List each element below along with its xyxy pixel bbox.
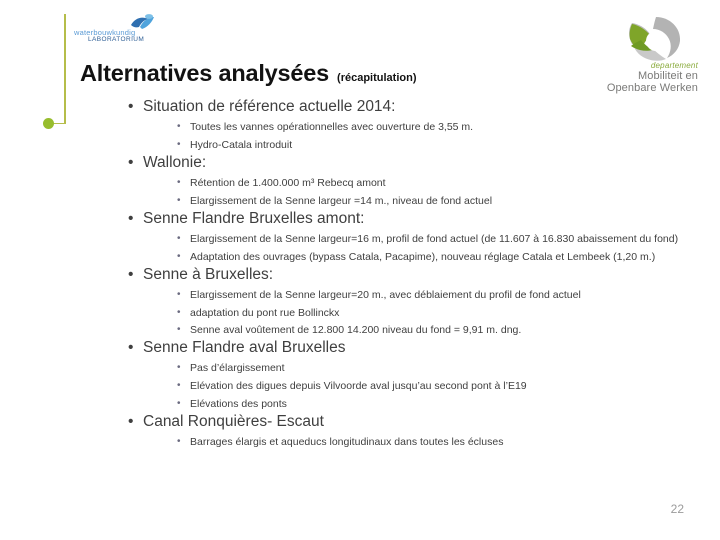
- bullet-level2-icon: •: [177, 379, 181, 392]
- section-bullet-label: Adaptation des ouvrages (bypass Catala, …: [190, 251, 686, 265]
- bullet-level2-icon: •: [177, 435, 181, 448]
- content-section: •Senne Flandre Bruxelles amont:•Elargiss…: [126, 209, 686, 265]
- section-bullet-item: •Elévation des digues depuis Vilvoorde a…: [176, 380, 686, 394]
- bullet-level2-icon: •: [177, 176, 181, 189]
- departement-mow-logo: departement Mobiliteit en Openbare Werke…: [576, 16, 698, 94]
- bullet-level1-icon: •: [128, 265, 133, 285]
- logo-right-line2: Openbare Werken: [576, 82, 698, 94]
- section-bullet-item: •Elargissement de la Senne largeur=16 m,…: [176, 233, 686, 247]
- section-bullet-item: •Rétention de 1.400.000 m³ Rebecq amont: [176, 177, 686, 191]
- section-bullet-label: Rétention de 1.400.000 m³ Rebecq amont: [190, 177, 686, 191]
- section-bullet-item: •Toutes les vannes opérationnelles avec …: [176, 121, 686, 135]
- section-bullet-item: •Elargissement de la Senne largeur =14 m…: [176, 195, 686, 209]
- page-number: 22: [671, 502, 684, 516]
- section-bullet-label: Elévations des ponts: [190, 398, 686, 412]
- bullet-level2-icon: •: [177, 194, 181, 207]
- section-heading: •Senne Flandre aval Bruxelles: [126, 338, 686, 358]
- section-bullet-label: Elévation des digues depuis Vilvoorde av…: [190, 380, 686, 394]
- section-heading-label: Canal Ronquières- Escaut: [143, 413, 324, 430]
- section-bullet-item: •Senne aval voûtement de 12.800 14.200 n…: [176, 324, 686, 338]
- section-bullet-label: Elargissement de la Senne largeur =14 m.…: [190, 195, 686, 209]
- bullet-level1-icon: •: [128, 338, 133, 358]
- section-bullet-item: •Adaptation des ouvrages (bypass Catala,…: [176, 251, 686, 265]
- section-bullet-item: • adaptation du pont rue Bollinckx: [176, 307, 686, 321]
- bullet-level2-icon: •: [177, 397, 181, 410]
- bullet-level1-icon: •: [128, 153, 133, 173]
- section-bullet-item: •Hydro-Catala introduit: [176, 139, 686, 153]
- bullet-level2-icon: •: [177, 288, 181, 301]
- section-bullet-item: •Elévations des ponts: [176, 398, 686, 412]
- section-bullet-label: Elargissement de la Senne largeur=16 m, …: [190, 233, 686, 247]
- page-title: Alternatives analysées (récapitulation): [80, 60, 416, 87]
- decorative-dot: [43, 118, 54, 129]
- section-bullet-label: adaptation du pont rue Bollinckx: [190, 307, 686, 321]
- bullet-level2-icon: •: [177, 232, 181, 245]
- bullet-level2-icon: •: [177, 323, 181, 336]
- section-heading: •Wallonie:: [126, 153, 686, 173]
- section-heading-label: Senne à Bruxelles:: [143, 266, 273, 283]
- section-bullet-label: Elargissement de la Senne largeur=20 m.,…: [190, 289, 686, 303]
- page-title-suffix: (récapitulation): [337, 72, 416, 84]
- content-section: •Senne Flandre aval Bruxelles•Pas d’élar…: [126, 338, 686, 412]
- bullet-level1-icon: •: [128, 412, 133, 432]
- bullet-level2-icon: •: [177, 361, 181, 374]
- slide-canvas: waterbouwkundig LABORATORIUM departement…: [0, 0, 720, 540]
- bullet-level1-icon: •: [128, 97, 133, 117]
- section-bullet-item: •Elargissement de la Senne largeur=20 m.…: [176, 289, 686, 303]
- bullet-level1-icon: •: [128, 209, 133, 229]
- content-section: •Wallonie:•Rétention de 1.400.000 m³ Reb…: [126, 153, 686, 209]
- section-heading-label: Situation de référence actuelle 2014:: [143, 98, 395, 115]
- logo-right-departement: departement: [576, 61, 698, 70]
- bullet-level2-icon: •: [177, 138, 181, 151]
- section-heading-label: Senne Flandre Bruxelles amont:: [143, 210, 364, 227]
- section-bullet-label: Barrages élargis et aqueducs longitudina…: [190, 436, 686, 450]
- section-heading: •Senne à Bruxelles:: [126, 265, 686, 285]
- slide-content: •Situation de référence actuelle 2014:•T…: [126, 97, 686, 450]
- section-bullet-item: •Pas d’élargissement: [176, 362, 686, 376]
- waterbouwkundig-laboratorium-logo: waterbouwkundig LABORATORIUM: [74, 14, 164, 50]
- section-heading-label: Senne Flandre aval Bruxelles: [143, 339, 345, 356]
- content-section: •Senne à Bruxelles:•Elargissement de la …: [126, 265, 686, 339]
- section-heading: •Canal Ronquières- Escaut: [126, 412, 686, 432]
- triangle-swirl-icon: [626, 16, 682, 62]
- section-heading: •Situation de référence actuelle 2014:: [126, 97, 686, 117]
- logo-right-line1: Mobiliteit en: [576, 70, 698, 82]
- bullet-level2-icon: •: [177, 120, 181, 133]
- section-bullet-label: Senne aval voûtement de 12.800 14.200 ni…: [190, 324, 686, 338]
- section-heading-label: Wallonie:: [143, 154, 206, 171]
- section-bullet-label: Toutes les vannes opérationnelles avec o…: [190, 121, 686, 135]
- content-section: •Canal Ronquières- Escaut•Barrages élarg…: [126, 412, 686, 450]
- bullet-level2-icon: •: [177, 306, 181, 319]
- section-bullet-label: Hydro-Catala introduit: [190, 139, 686, 153]
- page-title-main: Alternatives analysées: [80, 60, 329, 87]
- logo-left-line2: LABORATORIUM: [88, 36, 144, 43]
- bullet-level2-icon: •: [177, 250, 181, 263]
- section-bullet-item: •Barrages élargis et aqueducs longitudin…: [176, 436, 686, 450]
- content-section: •Situation de référence actuelle 2014:•T…: [126, 97, 686, 153]
- section-heading: •Senne Flandre Bruxelles amont:: [126, 209, 686, 229]
- decorative-vertical-line: [64, 14, 66, 124]
- section-bullet-label: Pas d’élargissement: [190, 362, 686, 376]
